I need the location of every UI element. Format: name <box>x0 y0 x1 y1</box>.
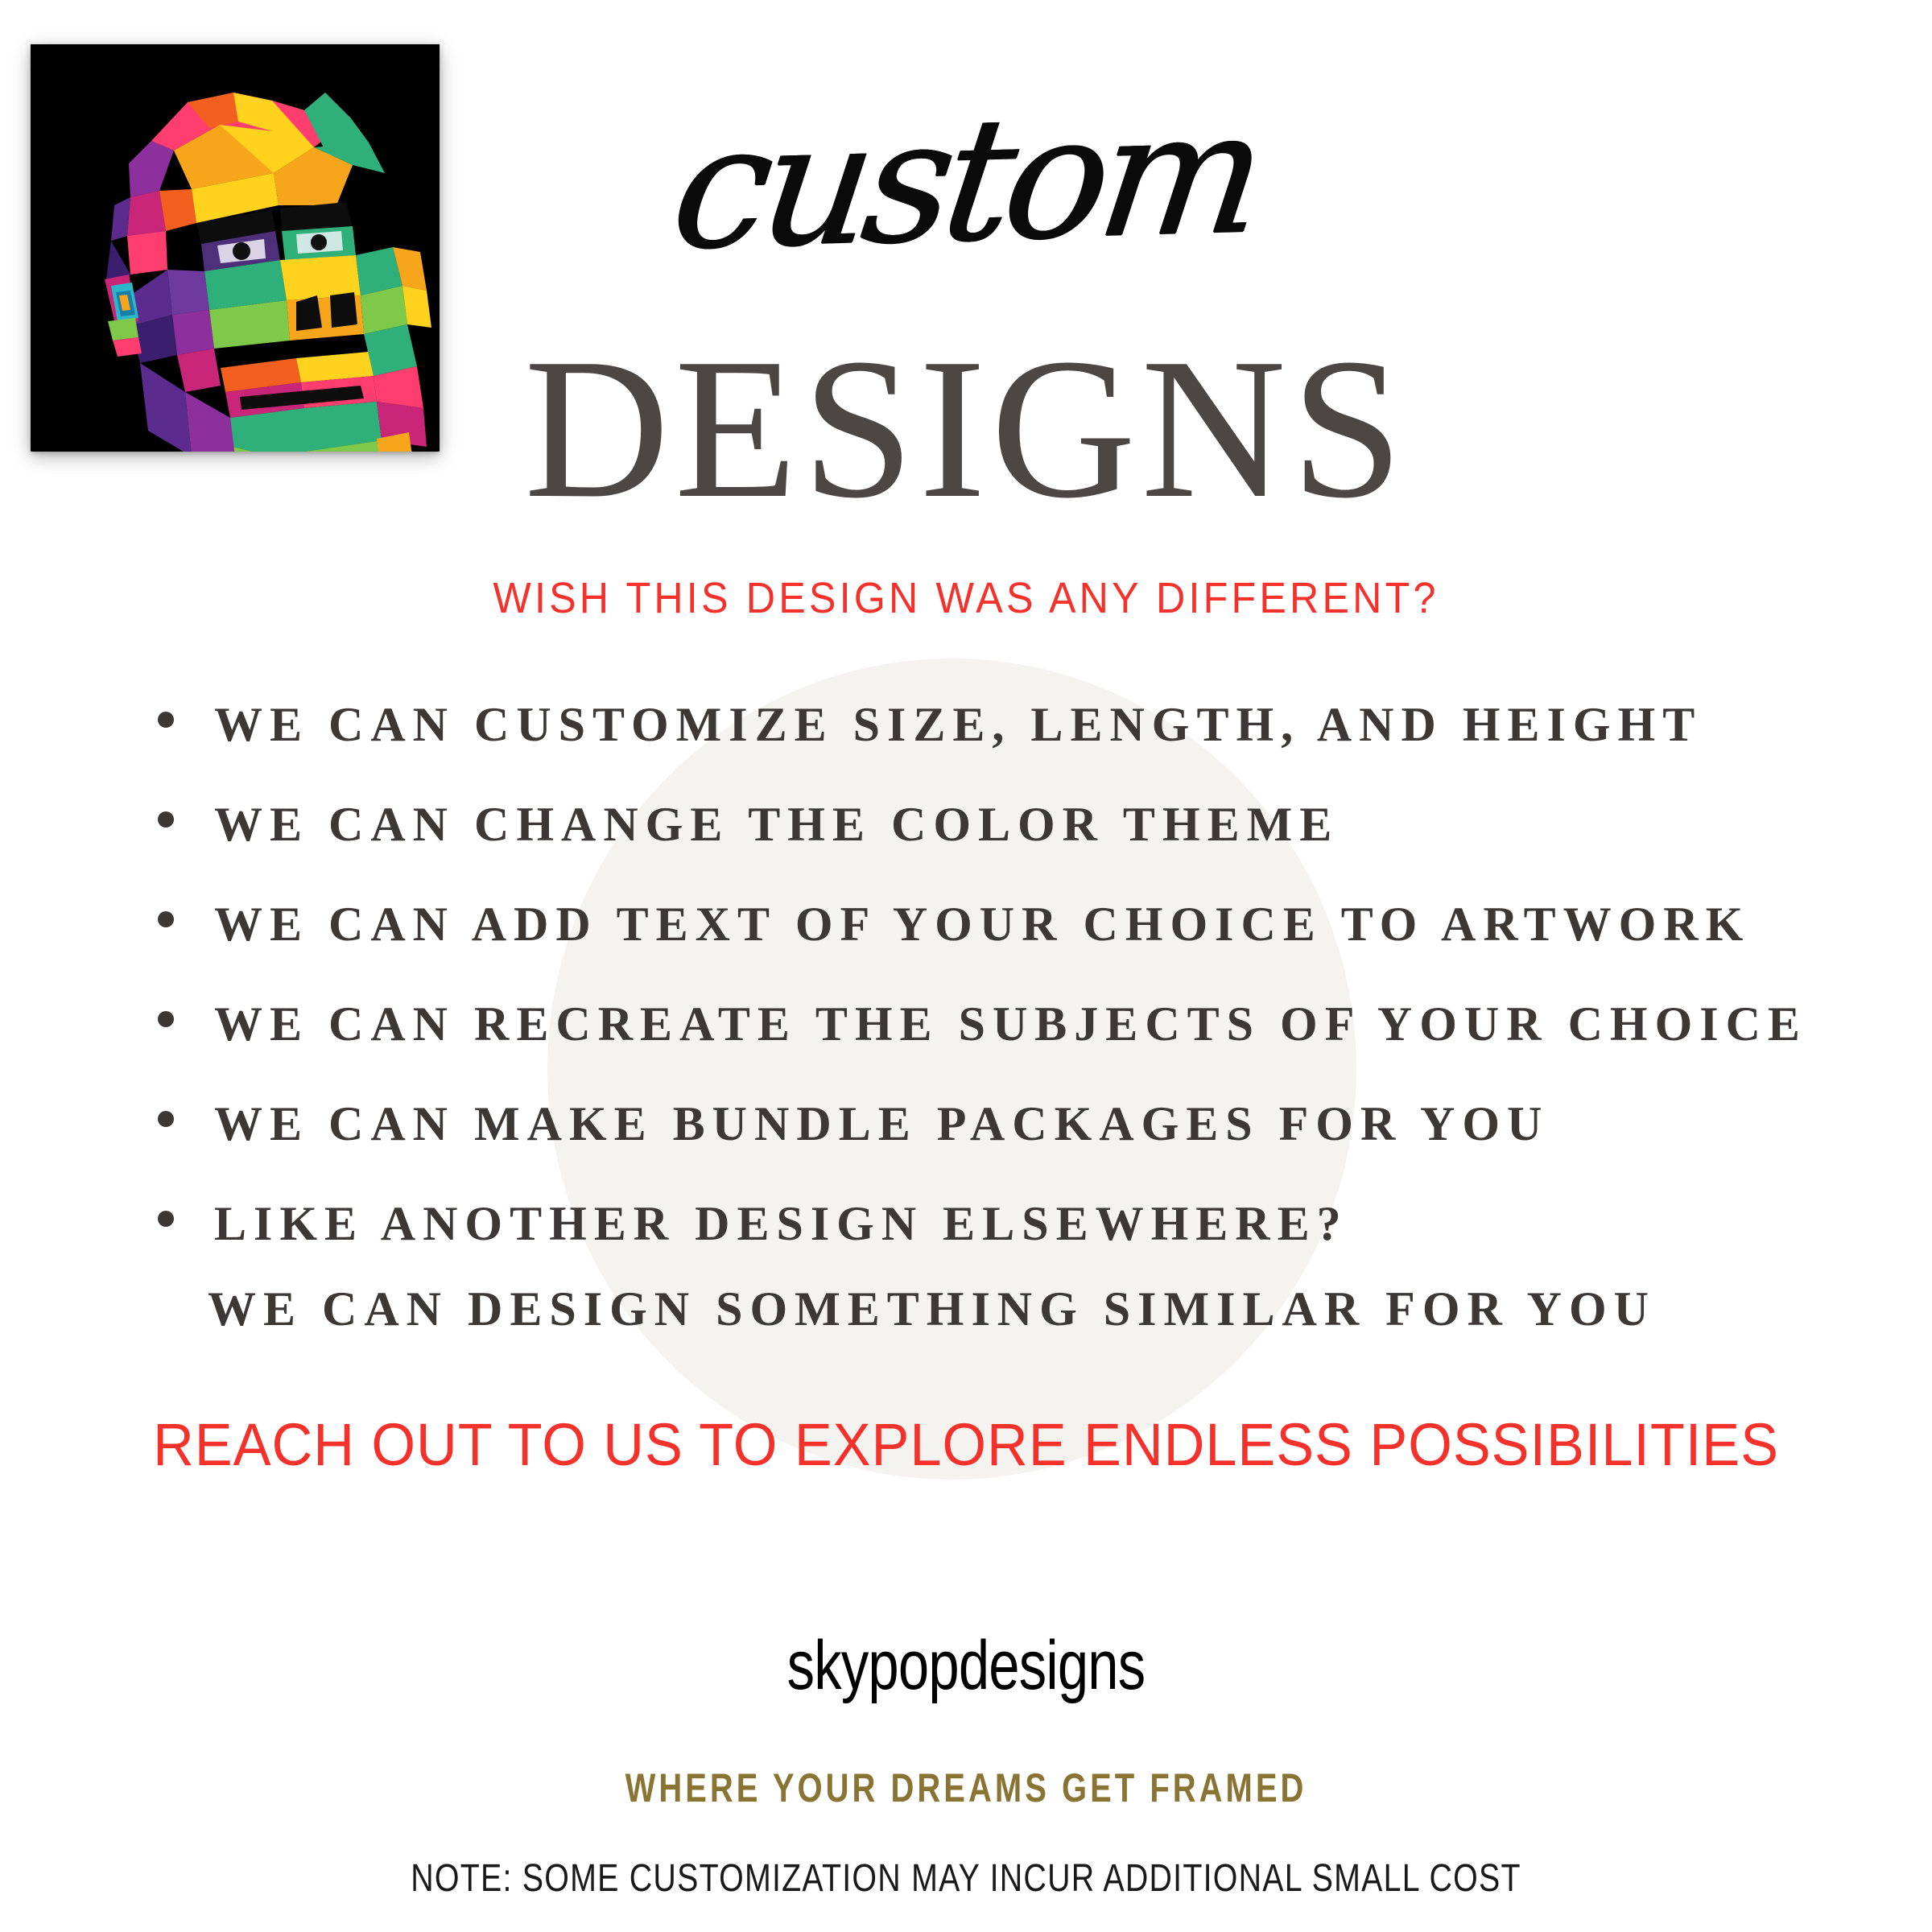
bullet-icon <box>158 712 174 728</box>
bullet-icon <box>158 911 174 927</box>
bullet-icon <box>158 811 174 828</box>
list-item-label: WE CAN ADD TEXT OF YOUR CHOICE TO ARTWOR… <box>214 897 1750 952</box>
list-item-label: WE CAN CUSTOMIZE SIZE, LENGTH, AND HEIGH… <box>214 697 1702 753</box>
brand-tagline: WHERE YOUR DREAMS GET FRAMED <box>193 1765 1739 1811</box>
list-item-label: WE CAN CHANGE THE COLOR THEME <box>214 797 1339 852</box>
bullet-icon <box>158 1111 174 1127</box>
list-item: WE CAN RECREATE THE SUBJECTS OF YOUR CHO… <box>158 997 1808 1096</box>
list-item: WE CAN MAKE BUNDLE PACKAGES FOR YOU <box>158 1096 1808 1196</box>
bullet-icon <box>158 1011 174 1027</box>
feature-list: WE CAN CUSTOMIZE SIZE, LENGTH, AND HEIGH… <box>158 697 1808 1296</box>
brand-logo: skypopdesigns <box>193 1626 1739 1706</box>
list-item-continuation: WE CAN DESIGN SOMETHING SIMILAR FOR YOU <box>208 1282 1656 1337</box>
pop-art-portrait-icon <box>31 44 440 452</box>
list-item: WE CAN CHANGE THE COLOR THEME <box>158 797 1808 897</box>
list-item-label: WE CAN RECREATE THE SUBJECTS OF YOUR CHO… <box>214 997 1807 1052</box>
bullet-icon <box>158 1211 174 1227</box>
list-item-label: WE CAN MAKE BUNDLE PACKAGES FOR YOU <box>214 1096 1549 1152</box>
list-item: WE CAN ADD TEXT OF YOUR CHOICE TO ARTWOR… <box>158 897 1808 997</box>
list-item: WE CAN CUSTOMIZE SIZE, LENGTH, AND HEIGH… <box>158 697 1808 797</box>
subheading: WISH THIS DESIGN WAS ANY DIFFERENT? <box>68 573 1864 623</box>
footnote: NOTE: SOME CUSTOMIZATION MAY INCUR ADDIT… <box>174 1856 1758 1901</box>
artwork-thumbnail[interactable] <box>31 44 440 452</box>
call-to-action: REACH OUT TO US TO EXPLORE ENDLESS POSSI… <box>48 1410 1884 1479</box>
list-item-label: LIKE ANOTHER DESIGN ELSEWHERE? <box>214 1196 1348 1252</box>
